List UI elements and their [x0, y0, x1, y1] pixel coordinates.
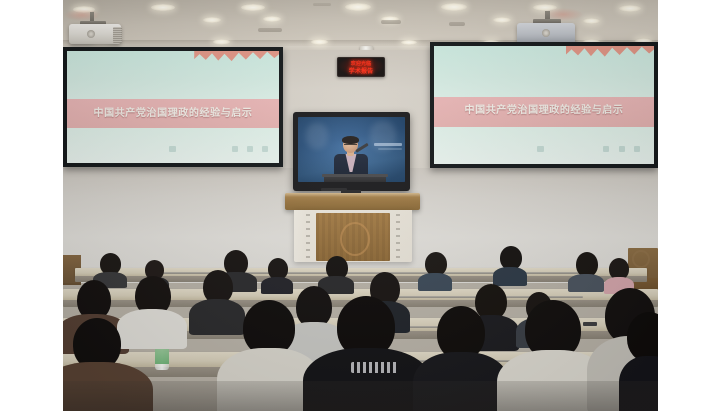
- slide-footer-icon: [247, 146, 253, 152]
- slide-footer-icon: [537, 146, 544, 152]
- downlight: [619, 5, 641, 12]
- downlight: [151, 4, 175, 11]
- downlight: [213, 39, 230, 45]
- slide-footer-marks: [434, 146, 654, 155]
- right-projection-screen: 中国共产党治国理政的经验与启示: [430, 42, 658, 168]
- lectern-top: [285, 193, 420, 210]
- audience-member: [318, 256, 354, 290]
- ceiling-vent: [381, 20, 401, 24]
- ceiling-vent: [313, 3, 331, 6]
- bottle-label: [155, 347, 169, 364]
- slide-footer-marks: [67, 146, 279, 155]
- tv-background-strip: [378, 148, 402, 150]
- lectern-top-highlight: [285, 193, 420, 197]
- lectern-wood-panel: [316, 213, 390, 261]
- right-screen-surface: 中国共产党治国理政的经验与启示: [434, 46, 654, 164]
- left-projection-screen: 中国共产党治国理政的经验与启示: [63, 47, 283, 167]
- tv-background-blob: [370, 121, 396, 151]
- tv-background-strip: [374, 143, 402, 146]
- slide-footer-icon: [634, 146, 640, 152]
- projector-vent: [113, 27, 122, 43]
- projector-lens: [87, 30, 95, 38]
- projector-lens: [542, 29, 550, 37]
- lectern-microphone: [321, 188, 347, 191]
- tv-speaker-glasses: [344, 144, 357, 145]
- audience-member: [604, 258, 634, 292]
- downlight: [583, 18, 600, 24]
- led-line-2: 学术报告: [338, 66, 384, 75]
- lectern-rivet-column: [396, 214, 400, 260]
- wall-clock: [632, 250, 650, 268]
- tv-background-blob: [306, 123, 328, 149]
- tv-podium-top: [322, 174, 388, 177]
- lecture-hall-photo: 中国共产党治国理政的经验与启示 中国共产党治国理政的经验与启示: [63, 0, 658, 411]
- slide-footer-icon: [232, 146, 238, 152]
- screenshot-root: 中国共产党治国理政的经验与启示 中国共产党治国理政的经验与启示: [0, 0, 720, 411]
- ceiling-projector-left: [66, 8, 128, 52]
- downlight: [311, 39, 328, 45]
- jacket-logo: [351, 362, 399, 373]
- lectern-rivet-column: [306, 214, 310, 260]
- right-slide-title: 中国共产党治国理政的经验与启示: [434, 101, 654, 116]
- tv-screen-content: [298, 117, 405, 182]
- downlight: [493, 17, 511, 23]
- downlight: [401, 40, 417, 45]
- slide-footer-icon: [262, 146, 268, 152]
- downlight: [203, 17, 221, 23]
- tv-speaker-hair: [342, 136, 359, 144]
- slide-footer-icon: [603, 146, 609, 152]
- ceiling-vent: [449, 22, 465, 26]
- slide-footer-icon: [619, 146, 625, 152]
- slide-footer-icon: [169, 146, 176, 152]
- downlight: [263, 16, 281, 22]
- audience-member: [568, 252, 604, 290]
- left-slide-title: 中国共产党治国理政的经验与启示: [67, 104, 279, 119]
- downlight: [441, 3, 467, 11]
- audience-member: [493, 246, 527, 284]
- audience-shoulders: [418, 273, 452, 291]
- downlight: [345, 3, 371, 11]
- slide-top-area: [67, 51, 279, 99]
- left-screen-surface: 中国共产党治国理政的经验与启示: [67, 51, 279, 163]
- lectern-body: [294, 210, 412, 262]
- ceiling-vent: [258, 28, 282, 32]
- audience-member: [418, 252, 452, 288]
- center-tv-monitor: [293, 112, 410, 191]
- floor-shadow: [63, 381, 658, 411]
- downlight: [241, 4, 265, 11]
- slide-top-area: [434, 46, 654, 97]
- lectern-emblem: [340, 222, 370, 256]
- audience-head: [627, 312, 658, 362]
- led-display-board: 欢迎光临 学术报告: [337, 57, 385, 77]
- projector-heat-stain: [64, 9, 100, 21]
